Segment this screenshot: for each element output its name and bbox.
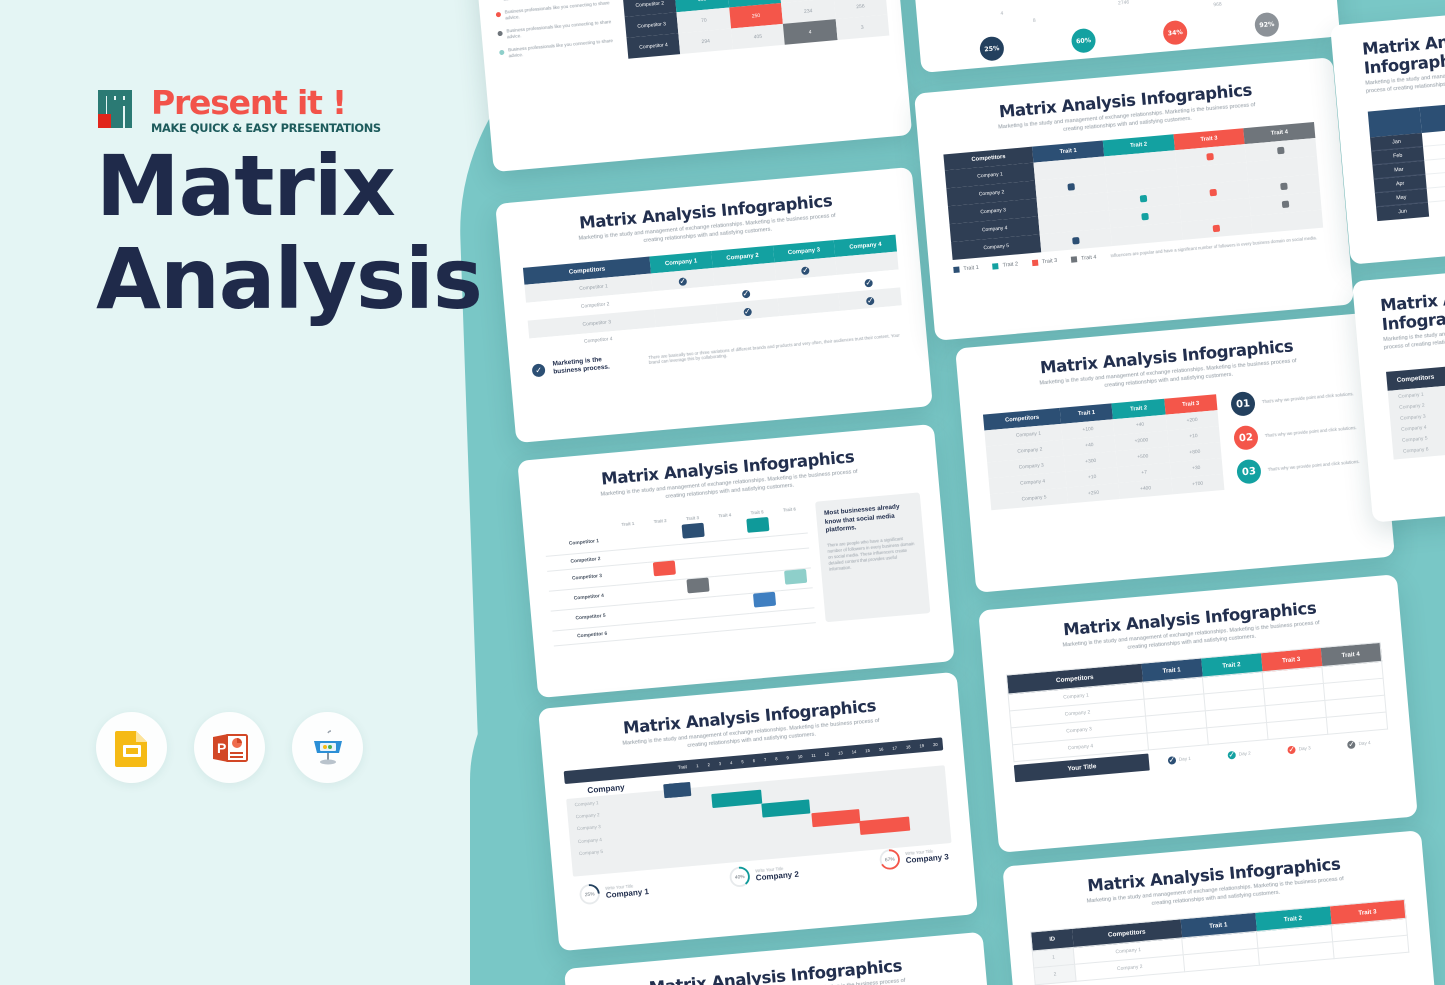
table-cell: 2746 — [1118, 0, 1130, 7]
list-item: Business professionals like you connecti… — [496, 0, 617, 23]
bullet-dot-icon — [497, 31, 502, 36]
brand-tagline: MAKE QUICK & EASY PRESENTATIONS — [151, 121, 381, 135]
table-cell: +250 — [1067, 483, 1120, 503]
bullet-dot-icon — [499, 50, 504, 55]
table-cell: +400 — [1119, 479, 1172, 499]
legend-item: ✓ Day 4 — [1347, 739, 1371, 749]
gantt-bar — [811, 809, 860, 827]
row-label: Company 2 — [576, 808, 650, 820]
matrix-table[interactable]: Competitors Trait 1 Trait 2 Trait 3 Comp… — [983, 394, 1224, 510]
keynote-icon[interactable] — [292, 712, 363, 783]
legend-item: Trait 4 — [1071, 255, 1097, 263]
svg-text:25%: 25% — [585, 891, 596, 898]
axis-label: Trait — [672, 764, 692, 771]
table-cell — [653, 619, 687, 637]
check-icon: ✓ — [532, 363, 546, 377]
legend-item: ✓ Day 3 — [1287, 744, 1311, 754]
present-it-logo-icon — [98, 86, 142, 132]
table-cell: 294 — [679, 29, 733, 55]
status-badge: 92% — [1254, 12, 1280, 38]
list-item: 03 That's why we provide point and click… — [1236, 450, 1366, 485]
donut-item: 25% Write Your Title Company 1 — [578, 878, 650, 906]
svg-text:40%: 40% — [735, 874, 746, 881]
list-item: 01 That's why we provide point and click… — [1230, 382, 1360, 417]
status-badge: 60% — [1071, 28, 1097, 54]
check-icon: ✓ — [1287, 745, 1296, 754]
table-cell: 3 — [835, 15, 889, 41]
check-icon: ✓ — [1168, 756, 1177, 765]
row-id: 2 — [1034, 964, 1077, 985]
check-icon: ✓ — [1227, 750, 1236, 759]
list-item-label: Business professionals like you connecti… — [506, 19, 618, 41]
check-icon: ✓ — [1347, 740, 1356, 749]
row-label: Company 4 — [578, 832, 652, 844]
bullet-list: Business professionals like you connecti… — [494, 0, 620, 60]
svg-text:P: P — [217, 740, 226, 756]
legend-item: Trait 2 — [992, 261, 1018, 269]
table-cell: +700 — [1171, 474, 1224, 494]
list-item: 02 That's why we provide point and click… — [1233, 416, 1363, 451]
page-title-line2: Analysis — [96, 233, 482, 326]
bullet-dot-icon — [496, 12, 501, 17]
table-cell — [621, 622, 655, 640]
powerpoint-icon[interactable]: P — [194, 712, 265, 783]
gantt-bar — [761, 800, 810, 818]
table-cell — [750, 611, 784, 629]
gantt-bar — [668, 782, 691, 798]
slide-trait-scatter[interactable]: Matrix Analysis Infographics Marketing i… — [914, 57, 1354, 341]
gantt-bar — [859, 817, 910, 835]
slide-title: Matrix Analysis Infographics — [1379, 275, 1445, 334]
gantt-bar — [711, 790, 762, 808]
legend-item: ✓ Day 2 — [1227, 749, 1251, 759]
slide-months[interactable]: Matrix Analysis Infographics Marketing i… — [1330, 0, 1445, 265]
step-text: That's why we provide point and click so… — [1265, 425, 1357, 439]
slide-days-table[interactable]: Matrix Analysis Infographics Marketing i… — [978, 574, 1418, 853]
slide-title: Matrix Analysis Infographics — [1361, 19, 1445, 78]
step-list: 01 That's why we provide point and click… — [1230, 382, 1366, 489]
matrix-table[interactable]: Competitors Company 1 Company 2 Company … — [619, 0, 890, 59]
donut-chart-icon: 25% — [578, 882, 602, 906]
legend-item: Trait 1 — [953, 265, 979, 273]
row-label: Company 3 — [577, 820, 651, 832]
step-text: That's why we provide point and click so… — [1268, 459, 1360, 473]
footer-badge-label: Marketing is the business process. — [552, 353, 641, 377]
step-number: 02 — [1233, 425, 1259, 451]
status-badge: 34% — [1162, 20, 1188, 46]
donut-chart-icon: 67% — [878, 848, 902, 872]
brand-logo: Present it ! MAKE QUICK & EASY PRESENTAT… — [98, 86, 381, 135]
table-cell: 968 — [1213, 2, 1222, 9]
legend-item: ✓ Day 1 — [1168, 754, 1192, 764]
app-compatibility-icons: P — [96, 712, 363, 783]
aside-panel: Most businesses already know that social… — [815, 492, 930, 622]
slide-gantt[interactable]: Matrix Analysis Infographics Marketing i… — [538, 672, 978, 951]
slide-heatmap-competitors[interactable]: Matrix Analysis Infographics Marketing i… — [517, 424, 955, 698]
donut-chart-icon: 40% — [728, 865, 752, 889]
step-number: 01 — [1230, 391, 1256, 417]
table-cell — [718, 614, 752, 632]
list-item: Business professionals like you connecti… — [497, 19, 618, 42]
legend-item: Trait 3 — [1032, 258, 1058, 266]
row-label: Company 1 — [574, 796, 648, 808]
list-item-label: Business professionals like you connecti… — [505, 0, 617, 22]
brand-wordmark: Present it ! — [151, 86, 381, 120]
page-title-line1: Matrix — [96, 140, 482, 233]
slide-numbered-table[interactable]: Matrix Analysis Infographics Marketing i… — [955, 312, 1395, 593]
aside-heading: Most businesses already know that social… — [824, 502, 915, 535]
step-text: That's why we provide point and click so… — [1262, 391, 1354, 405]
table-cell: 405 — [731, 24, 785, 50]
heatmap-chart[interactable]: Trait 1 Trait 2 Trait 3 Trait 4 Trait 5 … — [543, 503, 816, 647]
table-cell: 4 — [783, 19, 837, 45]
svg-text:67%: 67% — [885, 857, 896, 864]
table-cell: 4 — [1000, 11, 1003, 17]
column-header: Trait 1 — [1420, 99, 1445, 133]
google-slides-icon[interactable] — [96, 712, 167, 783]
page-title: Matrix Analysis — [96, 140, 482, 326]
donut-item: 40% Write Your Title Company 2 — [727, 857, 800, 893]
row-label: Competitor 4 — [627, 33, 681, 59]
row-label: Jun — [1376, 203, 1429, 221]
table-cell: 8 — [1033, 18, 1036, 24]
poster-canvas: Matrix Analysis Infographics Marketing i… — [0, 0, 1445, 985]
table-cell — [782, 608, 816, 626]
aside-body: There are people who have a significant … — [827, 535, 918, 573]
step-number: 03 — [1236, 459, 1262, 485]
list-item-label: Business professionals like you connecti… — [508, 38, 620, 60]
table-cell — [685, 616, 719, 634]
status-badge: 25% — [979, 36, 1005, 62]
list-item: Business professionals like you connecti… — [499, 38, 620, 61]
branding-panel: Present it ! MAKE QUICK & EASY PRESENTAT… — [0, 0, 480, 985]
row-label: Company 5 — [579, 844, 653, 856]
slide-check-matrix[interactable]: Matrix Analysis Infographics Marketing i… — [495, 167, 933, 443]
